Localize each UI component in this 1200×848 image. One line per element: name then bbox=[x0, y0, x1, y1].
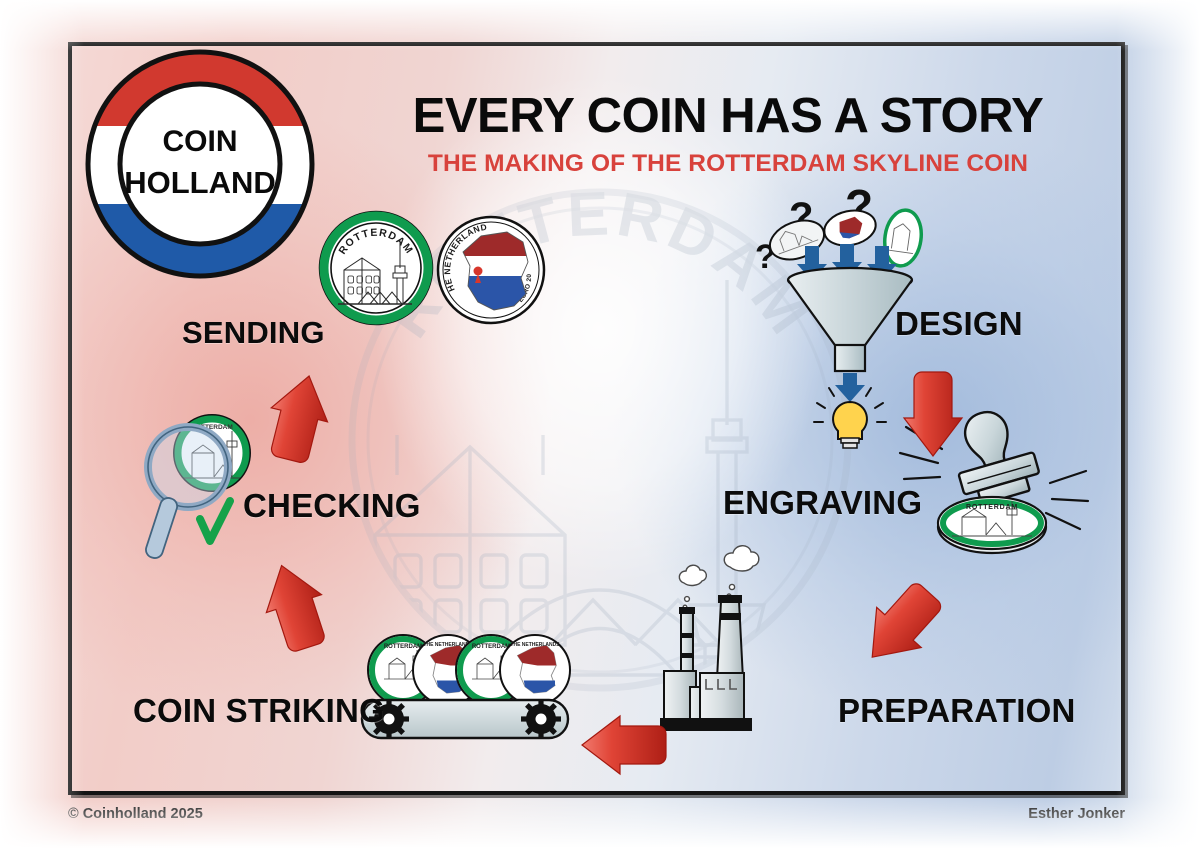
page-vignette bbox=[0, 0, 1200, 848]
infographic-canvas: ROTTERDAM bbox=[0, 0, 1200, 848]
